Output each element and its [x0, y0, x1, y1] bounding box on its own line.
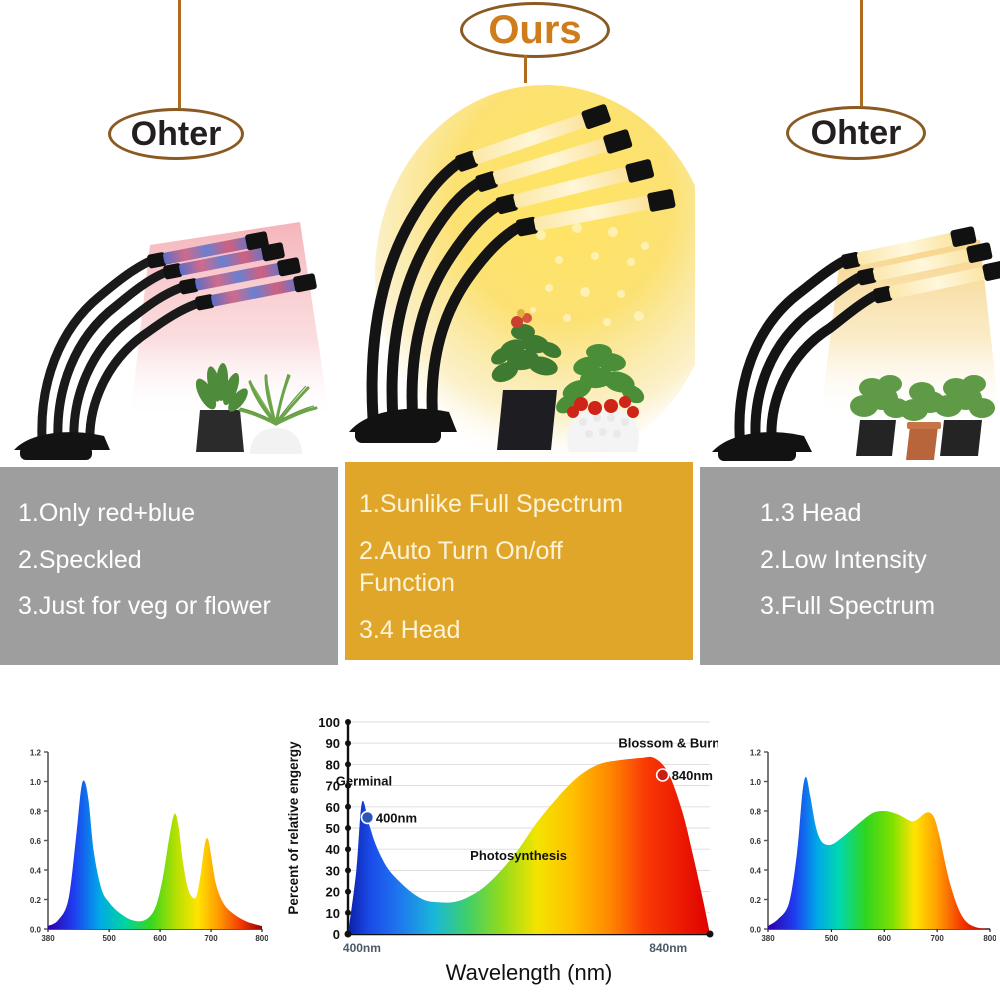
svg-text:1.2: 1.2: [750, 749, 762, 758]
clamp-base: [349, 409, 457, 443]
badge-other-right: Ohter: [786, 106, 926, 160]
svg-text:30: 30: [326, 863, 340, 878]
caption-panel-right: 1.3 Head 2.Low Intensity 3.Full Spectrum: [700, 467, 1000, 665]
chart-left-plot: 0.00.20.40.60.81.01.2380500600700800: [30, 749, 268, 944]
svg-text:0.2: 0.2: [30, 896, 42, 905]
caption-list-right: 1.3 Head 2.Low Intensity 3.Full Spectrum: [760, 497, 1000, 623]
svg-text:600: 600: [153, 934, 167, 943]
product-image-right: [700, 170, 1000, 465]
svg-text:Germinal: Germinal: [336, 774, 392, 789]
svg-text:80: 80: [326, 757, 340, 772]
badge-stem-right: [860, 0, 863, 106]
svg-text:0.8: 0.8: [30, 808, 42, 817]
caption-item: 2.Speckled: [18, 544, 338, 577]
svg-text:20: 20: [326, 885, 340, 900]
clamp-base: [14, 432, 110, 460]
badge-ours: Ours: [460, 2, 610, 58]
svg-text:840nm: 840nm: [672, 768, 713, 783]
svg-text:Blossom & Burnish: Blossom & Burnish: [618, 735, 718, 750]
svg-text:700: 700: [204, 934, 218, 943]
product-image-left: [0, 170, 340, 465]
svg-text:0.8: 0.8: [750, 808, 762, 817]
svg-text:Wavelength (nm): Wavelength (nm): [446, 960, 613, 985]
svg-text:500: 500: [825, 934, 839, 943]
svg-text:700: 700: [930, 934, 944, 943]
svg-text:1.2: 1.2: [30, 749, 42, 758]
clamp-base: [712, 432, 812, 461]
svg-text:0.0: 0.0: [30, 926, 42, 935]
svg-text:Photosynthesis: Photosynthesis: [470, 848, 567, 863]
svg-text:840nm: 840nm: [649, 941, 687, 955]
svg-text:Percent of relative engergy: Percent of relative engergy: [286, 741, 301, 915]
caption-item: 3.4 Head: [359, 614, 693, 647]
caption-item: 3.Full Spectrum: [760, 590, 1000, 623]
svg-text:50: 50: [326, 821, 340, 836]
svg-text:10: 10: [326, 906, 340, 921]
badge-label: Ohter: [811, 116, 902, 150]
svg-text:40: 40: [326, 842, 340, 857]
infographic-root: Ohter Ours Ohter: [0, 0, 1000, 1000]
caption-item: 1.Sunlike Full Spectrum: [359, 488, 693, 521]
svg-text:800: 800: [255, 934, 268, 943]
svg-text:0.2: 0.2: [750, 896, 762, 905]
badge-label: Ohter: [131, 117, 222, 151]
svg-text:380: 380: [761, 934, 775, 943]
caption-panel-center: 1.Sunlike Full Spectrum 2.Auto Turn On/o…: [345, 462, 693, 660]
chart-right-plot: 0.00.20.40.60.81.01.2380500600700800: [750, 749, 996, 944]
chart-left: 0.00.20.40.60.81.01.2380500600700800: [8, 740, 268, 955]
svg-text:600: 600: [878, 934, 892, 943]
caption-item: 2.Auto Turn On/off Function: [359, 535, 693, 600]
svg-text:400nm: 400nm: [376, 810, 417, 825]
svg-text:100: 100: [318, 715, 340, 730]
caption-item: 1.Only red+blue: [18, 497, 338, 530]
svg-text:800: 800: [983, 934, 996, 943]
product-image-center: [345, 60, 695, 465]
chart-center: 0102030405060708090100Percent of relativ…: [282, 706, 718, 991]
svg-text:380: 380: [41, 934, 55, 943]
svg-text:0.4: 0.4: [30, 867, 42, 876]
svg-text:0.0: 0.0: [750, 926, 762, 935]
caption-panel-left: 1.Only red+blue 2.Speckled 3.Just for ve…: [0, 467, 338, 665]
svg-text:400nm: 400nm: [343, 941, 381, 955]
caption-list-left: 1.Only red+blue 2.Speckled 3.Just for ve…: [18, 497, 338, 623]
svg-text:0.6: 0.6: [30, 837, 42, 846]
caption-item: 1.3 Head: [760, 497, 1000, 530]
plant-middle-terracotta-pot: [906, 422, 941, 460]
svg-text:1.0: 1.0: [30, 778, 42, 787]
svg-text:1.0: 1.0: [750, 778, 762, 787]
svg-text:0.6: 0.6: [750, 837, 762, 846]
svg-text:90: 90: [326, 736, 340, 751]
caption-item: 3.Just for veg or flower: [18, 590, 338, 623]
chart-center-plot: 0102030405060708090100Percent of relativ…: [286, 715, 718, 985]
caption-item: 2.Low Intensity: [760, 544, 1000, 577]
badge-label: Ours: [488, 10, 581, 50]
svg-text:0.4: 0.4: [750, 867, 762, 876]
svg-text:0: 0: [333, 927, 340, 942]
svg-text:60: 60: [326, 800, 340, 815]
caption-list-center: 1.Sunlike Full Spectrum 2.Auto Turn On/o…: [359, 488, 693, 646]
badge-other-left: Ohter: [108, 108, 244, 160]
chart-right: 0.00.20.40.60.81.01.2380500600700800: [728, 740, 996, 955]
svg-text:500: 500: [102, 934, 116, 943]
badge-stem-left: [178, 0, 181, 108]
